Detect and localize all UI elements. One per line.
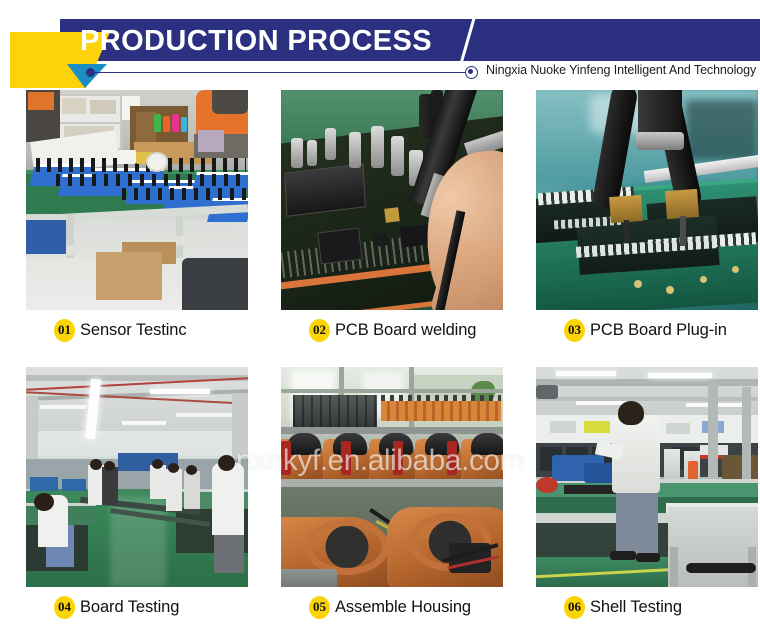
step-number-badge: 06 (564, 596, 585, 619)
caption-step-06: 06 Shell Testing (536, 587, 758, 627)
caption-step-03: 03 PCB Board Plug-in (536, 310, 758, 350)
process-grid: 01 Sensor Testinc 0 (0, 90, 760, 627)
caption-step-05: 05 Assemble Housing (281, 587, 503, 627)
production-process-page: PRODUCTION PROCESS Ningxia Nuoke Yinfeng… (0, 0, 760, 639)
header-rule-row: Ningxia Nuoke Yinfeng Intelligent And Te… (86, 64, 760, 82)
photo-pcb-plugin (536, 90, 758, 310)
diagonal-slash-icon (452, 19, 486, 61)
process-step-03[interactable]: 03 PCB Board Plug-in (536, 90, 758, 350)
photo-board-testing (26, 367, 248, 587)
process-step-04[interactable]: 04 Board Testing (26, 367, 248, 627)
step-label: Board Testing (80, 598, 179, 617)
step-number-badge: 05 (309, 596, 330, 619)
photo-sensor-testing (26, 90, 248, 310)
process-step-05[interactable]: 05 Assemble Housing (281, 367, 503, 627)
photo-pcb-welding (281, 90, 503, 310)
caption-step-02: 02 PCB Board welding (281, 310, 503, 350)
page-title: PRODUCTION PROCESS (80, 21, 432, 61)
horizontal-rule (94, 72, 468, 73)
process-step-01[interactable]: 01 Sensor Testinc (26, 90, 248, 350)
caption-step-04: 04 Board Testing (26, 587, 248, 627)
step-label: Shell Testing (590, 598, 682, 617)
step-label: PCB Board welding (335, 321, 476, 340)
photo-assemble-housing (281, 367, 503, 587)
process-step-06[interactable]: 06 Shell Testing (536, 367, 758, 627)
company-name: Ningxia Nuoke Yinfeng Intelligent And Te… (486, 63, 760, 77)
step-number-badge: 04 (54, 596, 75, 619)
process-step-02[interactable]: 02 PCB Board welding (281, 90, 503, 350)
step-number-badge: 02 (309, 319, 330, 342)
step-label: Sensor Testinc (80, 321, 187, 340)
process-row-2: 04 Board Testing (0, 367, 760, 627)
caption-step-01: 01 Sensor Testinc (26, 310, 248, 350)
step-number-badge: 01 (54, 319, 75, 342)
step-label: PCB Board Plug-in (590, 321, 727, 340)
process-row-1: 01 Sensor Testinc 0 (0, 90, 760, 350)
ring-target-icon (465, 66, 478, 79)
step-number-badge: 03 (564, 319, 585, 342)
step-label: Assemble Housing (335, 598, 471, 617)
photo-shell-testing (536, 367, 758, 587)
